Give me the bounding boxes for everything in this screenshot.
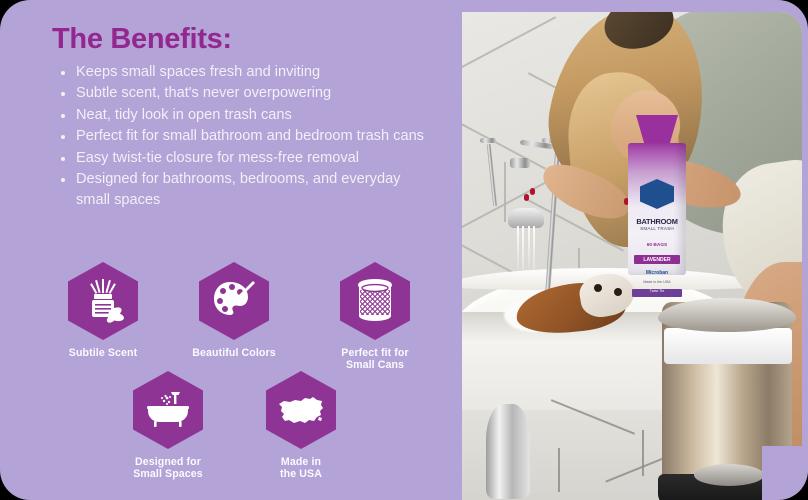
feature-subtle-scent: Subtile Scent bbox=[48, 262, 158, 359]
bathtub-shower-icon bbox=[133, 371, 203, 449]
shower-head bbox=[508, 208, 544, 228]
reed-diffuser-icon bbox=[68, 262, 138, 340]
tap-handle bbox=[480, 138, 496, 143]
white-trash-bag-liner bbox=[664, 328, 792, 364]
feature-label: Beautiful Colors bbox=[179, 347, 289, 359]
list-item: Perfect fit for small bathroom and bedro… bbox=[58, 126, 438, 147]
list-item: Neat, tidy look in open trash cans bbox=[58, 105, 438, 126]
list-item: Designed for bathrooms, bedrooms, and ev… bbox=[58, 169, 438, 212]
benefits-panel: The Benefits: Keeps small spaces fresh a… bbox=[0, 0, 462, 500]
package-body: BATHROOM SMALL TRASH 60 BAGS LAVENDER Mi… bbox=[628, 143, 686, 275]
tap-spout bbox=[510, 158, 530, 168]
color-scents-logo bbox=[640, 179, 674, 209]
package-subtype: SMALL TRASH bbox=[628, 226, 686, 231]
feature-perfect-fit: Perfect fit for Small Cans bbox=[320, 262, 430, 372]
package-count: 60 BAGS bbox=[628, 243, 686, 248]
paint-palette-icon bbox=[199, 262, 269, 340]
product-benefits-card: The Benefits: Keeps small spaces fresh a… bbox=[0, 0, 808, 500]
package-microban: Microban bbox=[628, 270, 686, 276]
mesh-trash-can-icon bbox=[340, 262, 410, 340]
bathtub-foot-fixture bbox=[486, 404, 530, 499]
trash-can-pedal bbox=[694, 464, 764, 486]
benefits-list: Keeps small spaces fresh and inviting Su… bbox=[58, 62, 438, 212]
package-size: Twist Tie bbox=[628, 289, 686, 293]
bathroom-lifestyle-photo: BATHROOM SMALL TRASH 60 BAGS LAVENDER Mi… bbox=[462, 12, 802, 500]
product-package: BATHROOM SMALL TRASH 60 BAGS LAVENDER Mi… bbox=[628, 115, 686, 275]
page-title: The Benefits: bbox=[52, 23, 232, 56]
feature-beautiful-colors: Beautiful Colors bbox=[179, 262, 289, 359]
package-origin: Made in the USA bbox=[628, 280, 686, 284]
list-item: Subtle scent, that's never overpowering bbox=[58, 83, 438, 104]
feature-label: Subtile Scent bbox=[48, 347, 158, 359]
list-item: Keeps small spaces fresh and inviting bbox=[58, 62, 438, 83]
feature-small-spaces: Designed for Small Spaces bbox=[113, 371, 223, 481]
feature-label: Designed for Small Spaces bbox=[113, 456, 223, 481]
trash-can-lid bbox=[658, 298, 796, 332]
package-type: BATHROOM bbox=[628, 217, 686, 226]
feature-label: Made in the USA bbox=[246, 456, 356, 481]
usa-map-icon bbox=[266, 371, 336, 449]
list-item: Easy twist-tie closure for mess-free rem… bbox=[58, 148, 438, 169]
feature-label: Perfect fit for Small Cans bbox=[320, 347, 430, 372]
feature-made-in-usa: Made in the USA bbox=[246, 371, 356, 481]
package-scent: LAVENDER bbox=[628, 257, 686, 263]
